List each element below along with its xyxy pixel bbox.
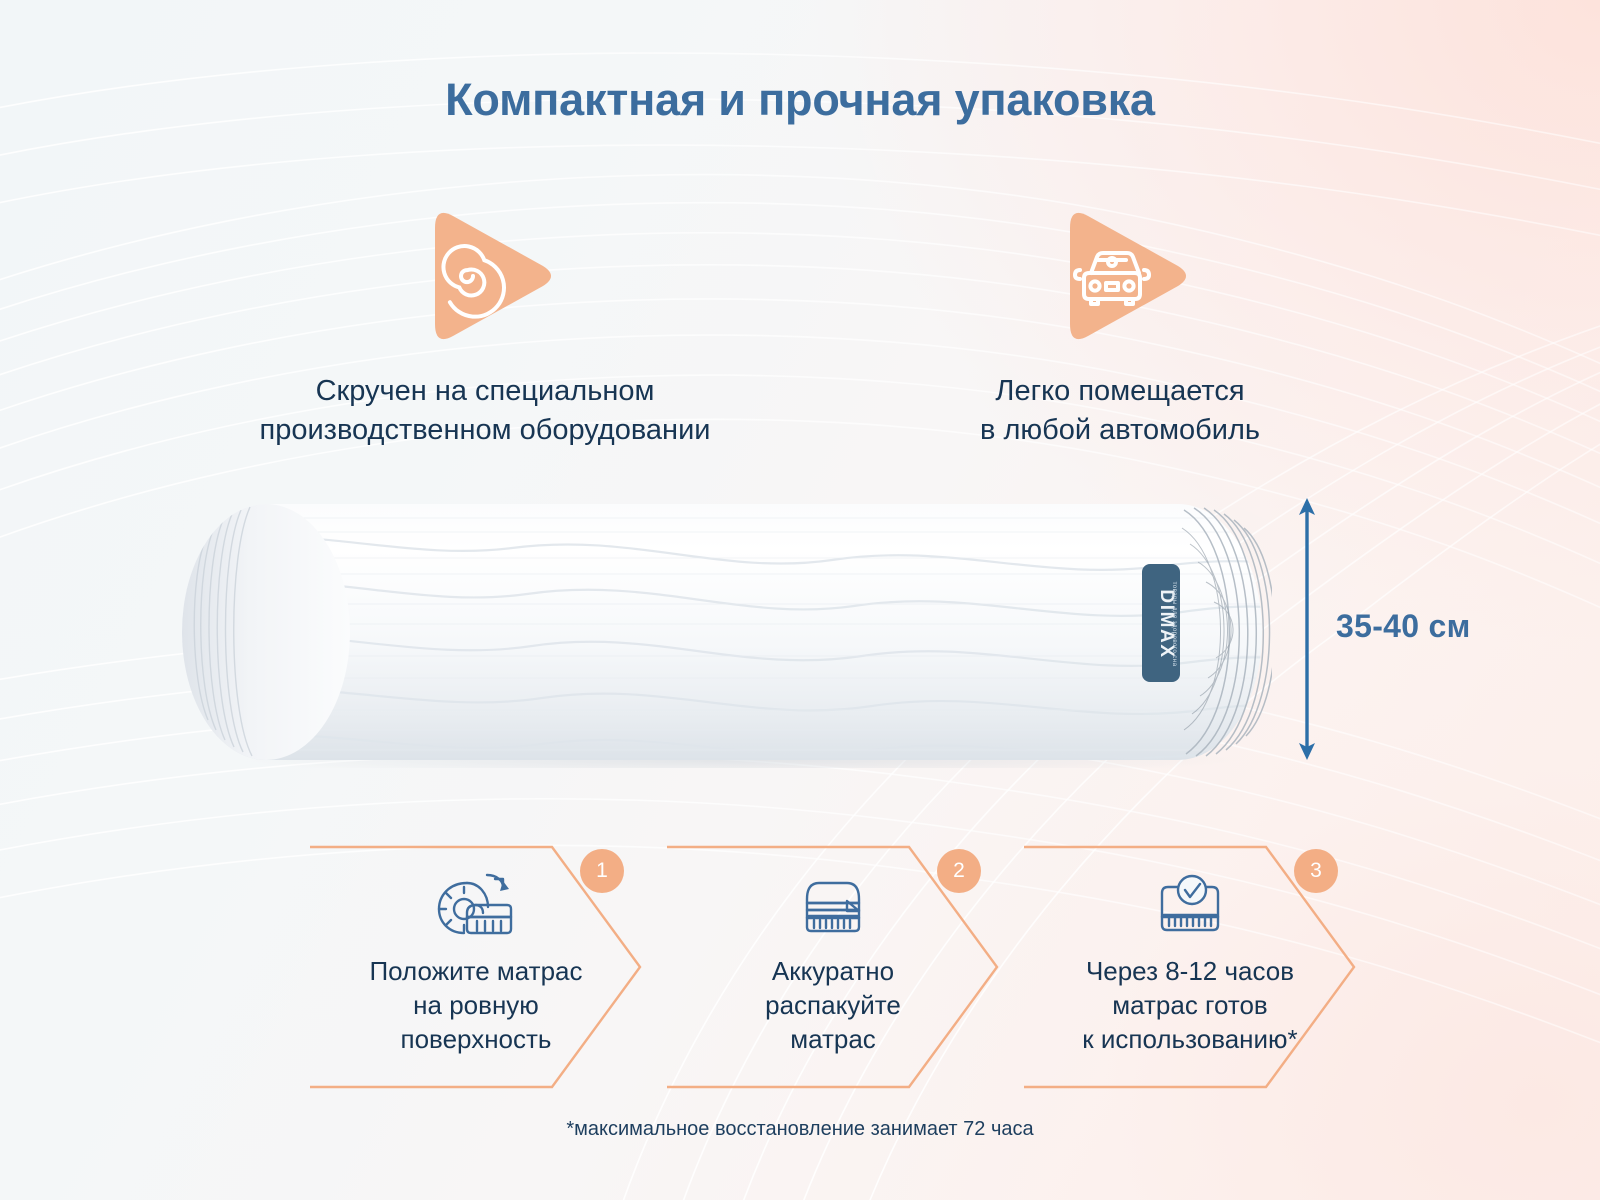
step-1-line3: поверхность <box>326 1023 626 1057</box>
svg-text:товары для здорового сна: товары для здорового сна <box>1171 582 1178 667</box>
feature-block-rolled: Скручен на специальном производственном … <box>170 200 800 451</box>
feature-1-text: Скручен на специальном производственном … <box>170 372 800 451</box>
feature-2-line2: в любой автомобиль <box>860 411 1380 450</box>
dimension-label: 35-40 см <box>1336 608 1471 645</box>
feature-block-car: Легко помещается в любой автомобиль <box>860 200 1380 451</box>
feature-1-line1: Скручен на специальном <box>170 372 800 411</box>
step-1-text: Положите матрас на ровную поверхность <box>326 955 626 1056</box>
infographic-canvas: Компактная и прочная упаковка Скручен на… <box>0 0 1600 1200</box>
step-3-line3: к использованию* <box>1040 1023 1340 1057</box>
feature-2-icon-wrap <box>860 200 1380 352</box>
brand-label: DIMAX товары для здорового сна <box>1142 564 1180 682</box>
steps-row: 1 <box>0 843 1600 1093</box>
footnote: *максимальное восстановление занимает 72… <box>0 1118 1600 1141</box>
step-1-line1: Положите матрас <box>326 955 626 989</box>
step-2: 2 <box>657 843 1009 1091</box>
step-3-line2: матрас готов <box>1040 989 1340 1023</box>
step-3-number: 3 <box>1294 849 1338 893</box>
step-3-text: Через 8-12 часов матрас готов к использо… <box>1040 955 1340 1056</box>
page-title: Компактная и прочная упаковка <box>0 74 1600 126</box>
feature-2-text: Легко помещается в любой автомобиль <box>860 372 1380 451</box>
step-1-line2: на ровную <box>326 989 626 1023</box>
spiral-roll-icon <box>415 200 555 352</box>
step-2-line1: Аккуратно <box>683 955 983 989</box>
step-2-number: 2 <box>937 849 981 893</box>
dimension-arrow <box>1294 498 1320 760</box>
mattress-check-icon <box>1150 869 1230 943</box>
step-2-text: Аккуратно распакуйте матрас <box>683 955 983 1056</box>
step-2-line3: матрас <box>683 1023 983 1057</box>
car-front-icon <box>1050 200 1190 352</box>
feature-2-line1: Легко помещается <box>860 372 1380 411</box>
step-1: 1 <box>300 843 652 1091</box>
feature-1-line2: производственном оборудовании <box>170 411 800 450</box>
step-3-line1: Через 8-12 часов <box>1040 955 1340 989</box>
feature-1-icon-wrap <box>170 200 800 352</box>
unrolling-mattress-icon <box>433 869 519 943</box>
step-2-line2: распакуйте <box>683 989 983 1023</box>
step-1-number: 1 <box>580 849 624 893</box>
rolled-mattress-product: DIMAX товары для здорового сна <box>182 498 1272 768</box>
step-3: 3 Через 8- <box>1014 843 1366 1091</box>
mattress-unpack-icon <box>793 869 873 943</box>
